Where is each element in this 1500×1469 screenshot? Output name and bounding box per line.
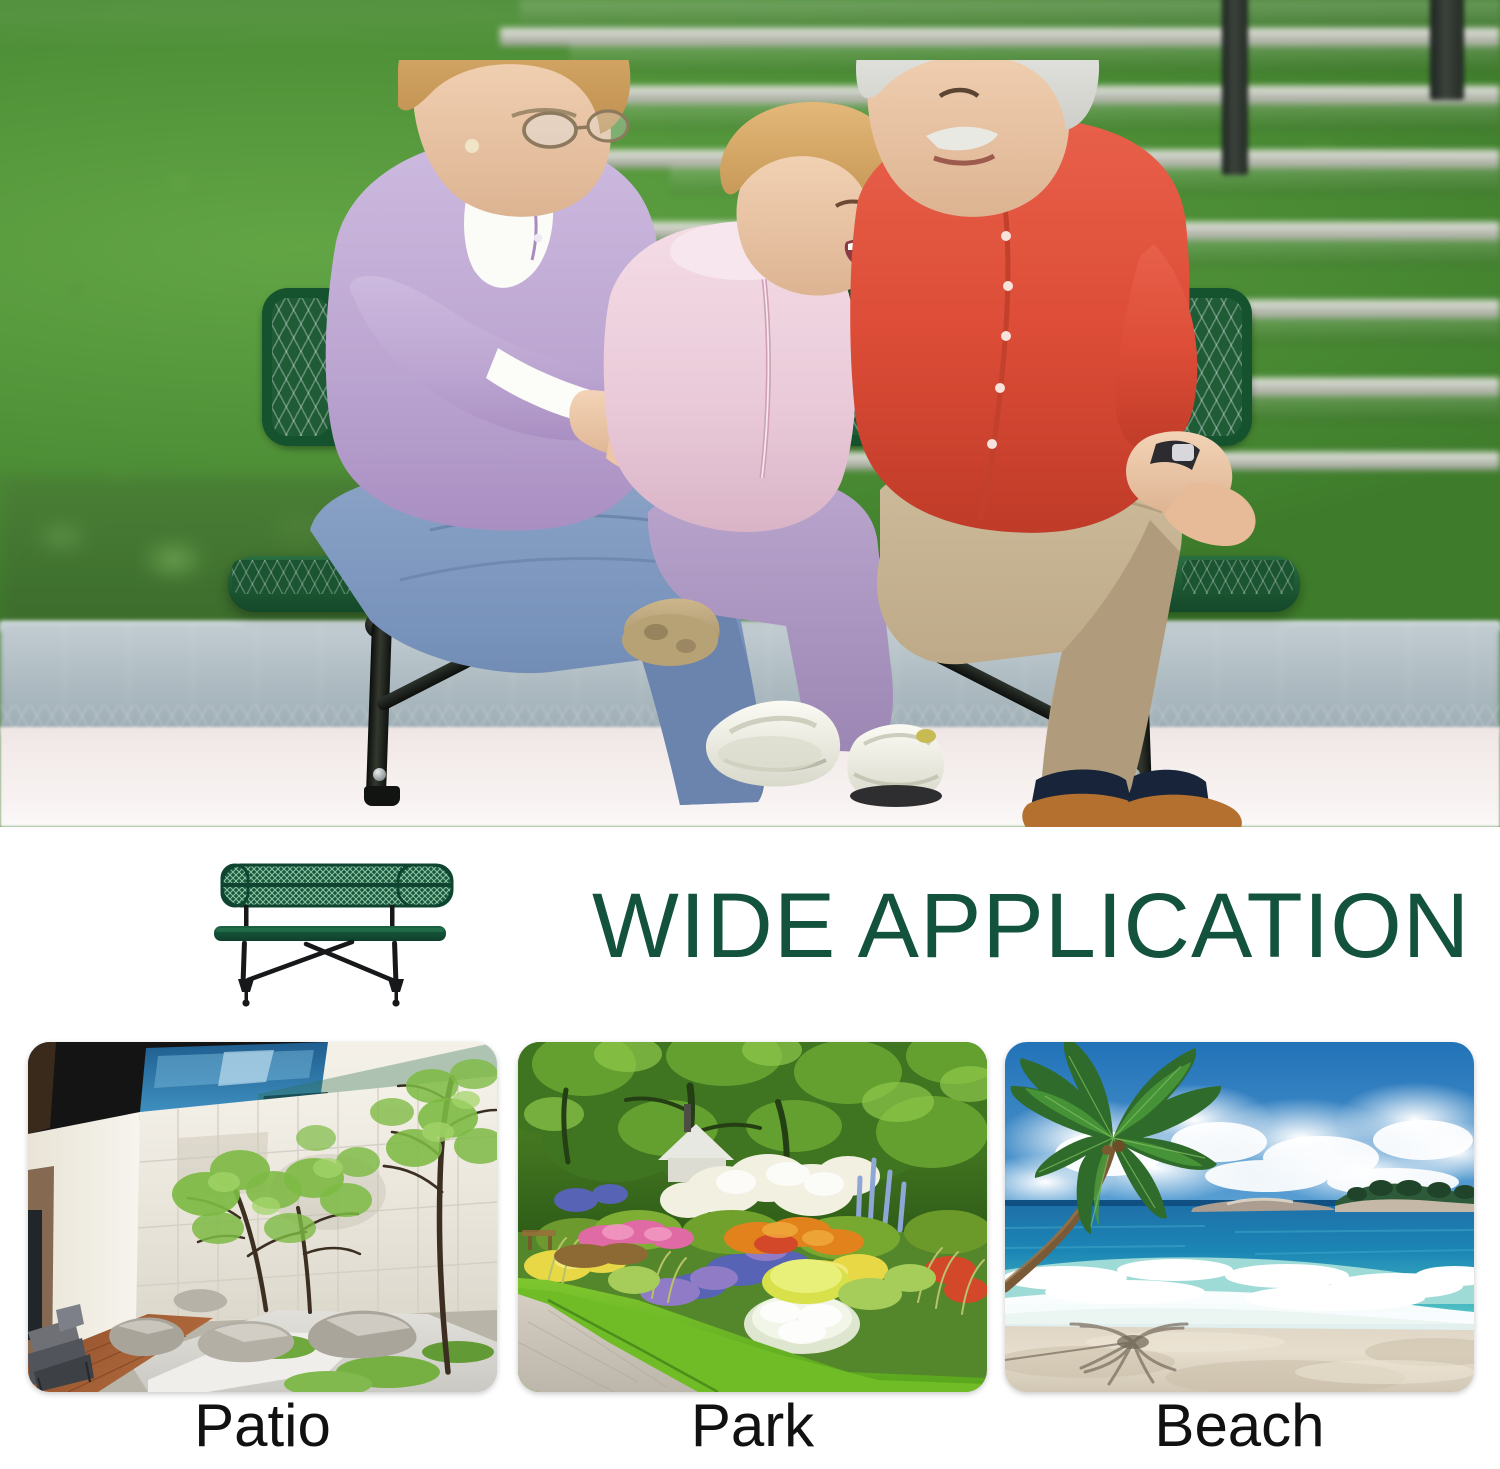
girl-sneaker (847, 724, 944, 807)
page-title: WIDE APPLICATION (592, 880, 1470, 972)
park-garden-photo (518, 1042, 987, 1392)
card-label-park: Park (518, 1396, 987, 1456)
card-beach[interactable] (1005, 1042, 1474, 1392)
card-patio[interactable] (28, 1042, 497, 1392)
patio-courtyard-photo (28, 1042, 497, 1392)
card-label-patio: Patio (28, 1396, 497, 1456)
hero-lifestyle-image (0, 0, 1500, 827)
card-park[interactable] (518, 1042, 987, 1392)
person-grandfather (850, 60, 1255, 827)
park-pole-right (1430, 0, 1464, 100)
people-group (250, 60, 1370, 827)
beach-palm-photo (1005, 1042, 1474, 1392)
product-bench-illustration (206, 860, 468, 1008)
card-label-beach: Beach (1005, 1396, 1474, 1456)
